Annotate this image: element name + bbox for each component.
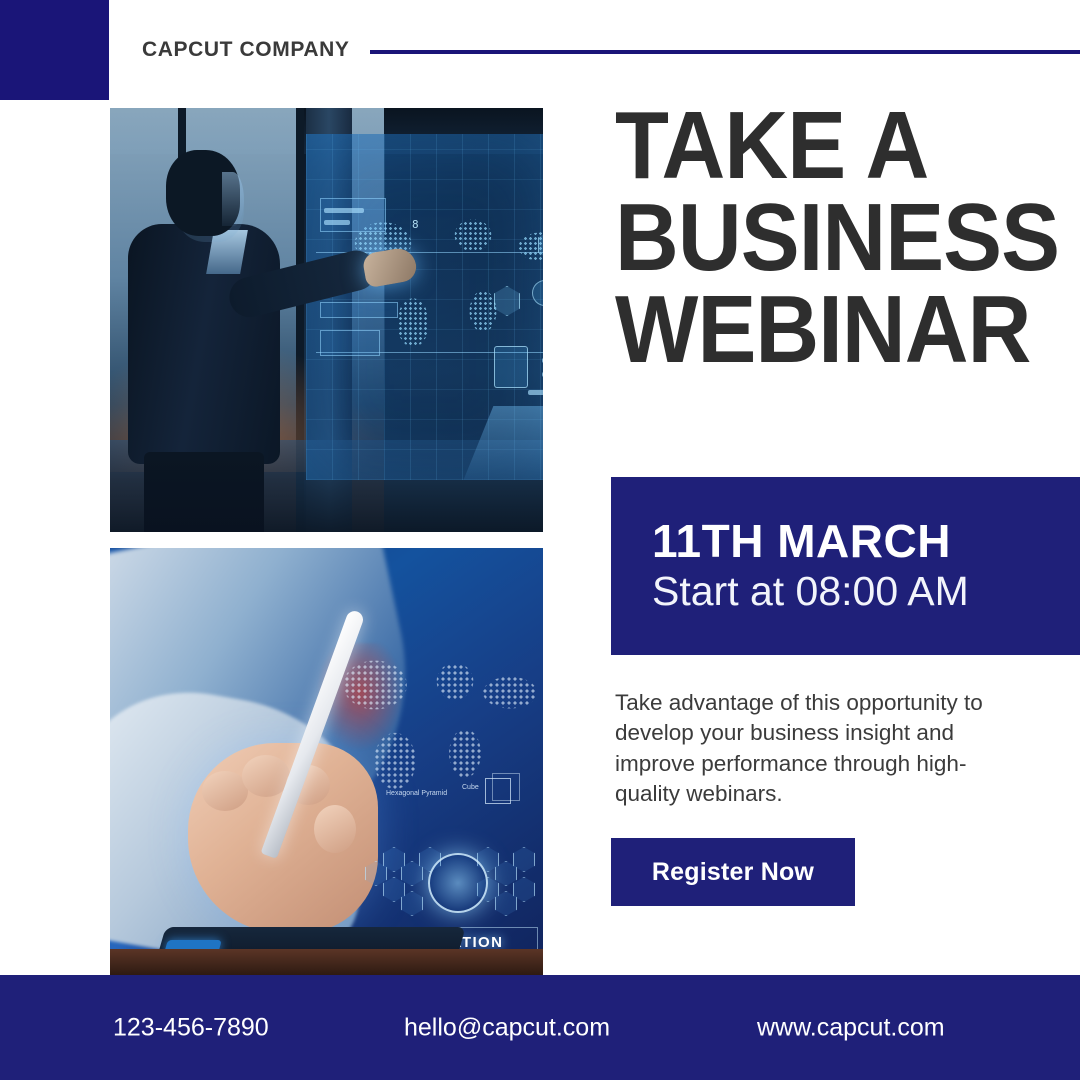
event-date: 11TH MARCH <box>652 517 1080 565</box>
register-now-label: Register Now <box>652 858 814 887</box>
hologram-bar <box>324 220 350 225</box>
cube-diagram-icon <box>485 778 511 804</box>
knuckle <box>314 805 356 853</box>
tablet-scene-background: Hexagonal Pyramid Cube <box>110 548 543 975</box>
event-start-time: Start at 08:00 AM <box>652 568 1080 615</box>
webinar-poster: CAPCUT COMPANY <box>0 0 1080 1080</box>
central-tech-hub-icon <box>428 853 488 913</box>
suit-torso <box>128 224 280 464</box>
footer-website[interactable]: www.capcut.com <box>757 1013 945 1042</box>
trousers <box>144 452 264 532</box>
hologram-value-label: 8 <box>412 218 419 231</box>
wooden-desk <box>110 949 543 975</box>
description-text: Take advantage of this opportunity to de… <box>615 688 1015 810</box>
hero-image-bottom: Hexagonal Pyramid Cube <box>110 548 543 975</box>
footer-phone[interactable]: 123-456-7890 <box>113 1013 269 1042</box>
hologram-bar <box>542 372 543 377</box>
face-highlight <box>222 172 244 226</box>
geometry-note-label: Hexagonal Pyramid <box>386 790 447 798</box>
hero-image-top: 19 9 8 12 <box>110 108 543 532</box>
header-divider-rule <box>370 50 1080 54</box>
document-icon <box>494 346 528 388</box>
hologram-bar <box>542 358 543 363</box>
register-now-button[interactable]: Register Now <box>611 838 855 906</box>
hologram-panel <box>320 198 386 232</box>
contact-footer-bar: 123-456-7890 hello@capcut.com www.capcut… <box>0 975 1080 1080</box>
geometry-note-label: Cube <box>462 784 479 792</box>
page-title: TAKE A BUSINESS WEBINAR <box>615 100 1038 376</box>
hologram-panel <box>320 330 380 356</box>
office-background: 19 9 8 12 <box>110 108 543 532</box>
title-line-2: BUSINESS <box>615 192 1038 284</box>
hologram-bar <box>324 208 364 213</box>
date-time-banner: 11TH MARCH Start at 08:00 AM <box>611 477 1080 655</box>
title-line-3: WEBINAR <box>615 284 1038 376</box>
holographic-screen: 19 9 8 12 <box>306 134 543 480</box>
hologram-panel <box>320 302 398 318</box>
businessman-silhouette <box>118 132 308 532</box>
footer-email[interactable]: hello@capcut.com <box>404 1013 610 1042</box>
corner-accent-block <box>0 0 109 100</box>
title-line-1: TAKE A <box>615 100 1038 192</box>
brand-name: CAPCUT COMPANY <box>142 38 350 62</box>
hologram-bar <box>528 390 543 395</box>
